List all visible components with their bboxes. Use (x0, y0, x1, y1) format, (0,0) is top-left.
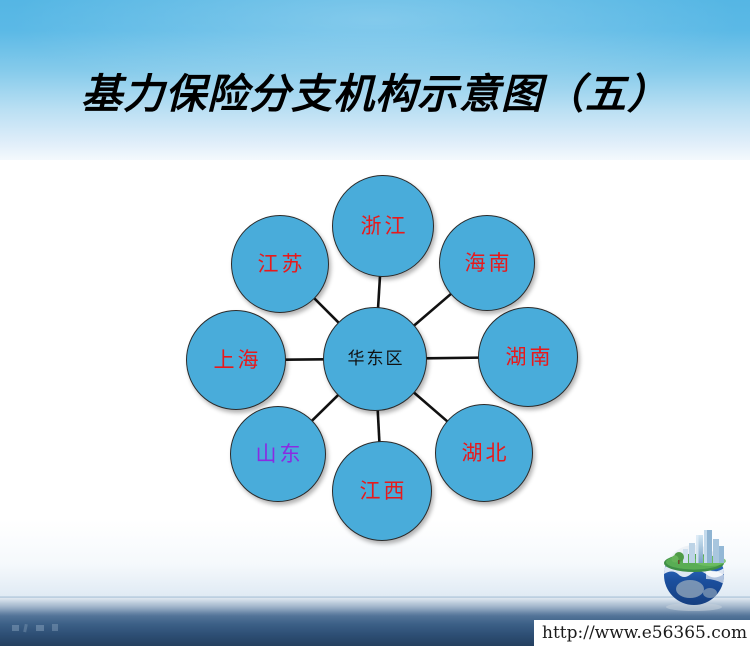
diagram-node-label: 江苏 (255, 254, 306, 275)
diagram-node-jiangxi[interactable]: 江西 (332, 441, 432, 541)
diagram-edge-center-jiangsu (313, 297, 339, 323)
diagram-node-label: 江西 (357, 481, 408, 502)
watermark-url-text: http://www.e56365.com (534, 623, 747, 643)
diagram-node-shandong[interactable]: 山东 (230, 406, 326, 502)
diagram-node-jiangsu[interactable]: 江苏 (231, 215, 329, 313)
diagram-node-label: 上海 (211, 350, 262, 371)
diagram-node-hainan[interactable]: 海南 (439, 215, 535, 311)
diagram-edge-center-jiangxi (378, 409, 380, 443)
diagram-node-label: 华东区 (346, 351, 405, 368)
diagram-node-label: 山东 (253, 444, 304, 465)
slide-canvas: 基力保险分支机构示意图（五） 华东区浙江江苏上海山东江西湖北湖南海南 (0, 0, 750, 646)
diagram-node-label: 湖北 (459, 443, 510, 464)
diagram-node-label: 海南 (462, 253, 513, 274)
diagram-node-shanghai[interactable]: 上海 (186, 310, 286, 410)
diagram-node-label: 浙江 (358, 216, 409, 237)
diagram-edge-center-shandong (311, 394, 339, 422)
diagram-node-label: 湖南 (503, 347, 554, 368)
diagram-edge-center-hubei (413, 392, 449, 423)
diagram-node-hubei[interactable]: 湖北 (435, 404, 533, 502)
diagram-node-center[interactable]: 华东区 (323, 307, 427, 411)
diagram-edge-center-hunan (425, 358, 480, 359)
diagram-edge-center-hainan (413, 293, 452, 327)
diagram-node-hunan[interactable]: 湖南 (478, 307, 578, 407)
diagram-node-zhejiang[interactable]: 浙江 (332, 175, 434, 277)
watermark-url-box: http://www.e56365.com (534, 620, 750, 646)
globe-city-icon (648, 527, 740, 613)
diagram-edge-center-zhejiang (378, 275, 380, 309)
